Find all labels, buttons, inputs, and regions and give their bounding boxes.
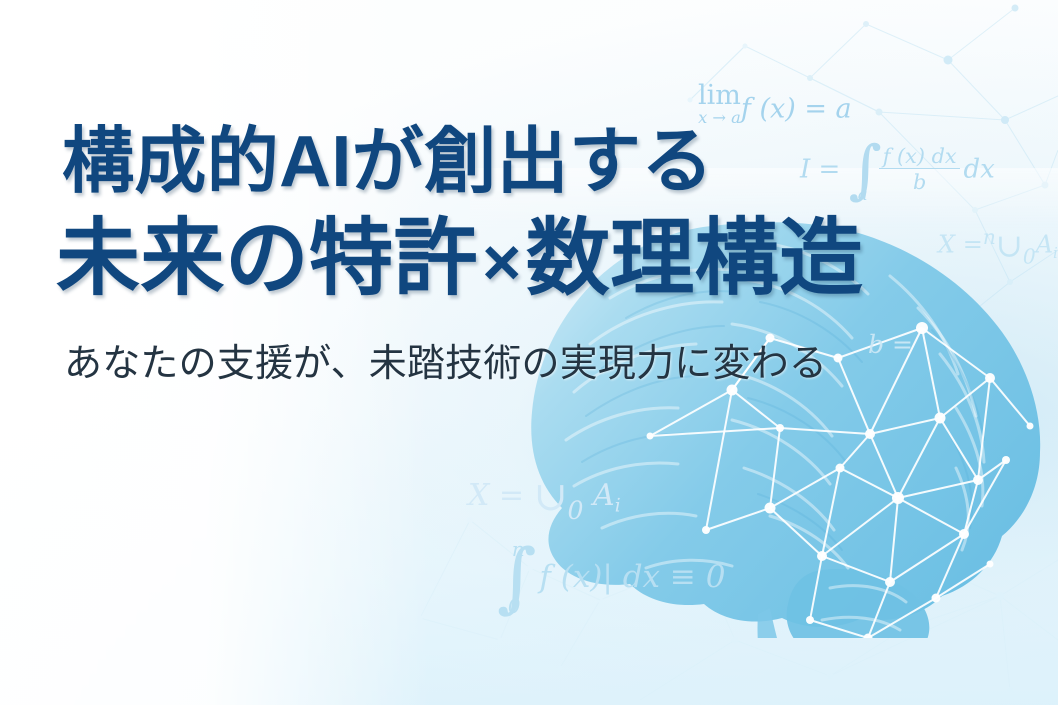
- formula-integral-trailing: dx: [964, 155, 995, 185]
- formula-limit-lim: lim: [698, 82, 741, 110]
- formula-union-top-lower: 0: [1023, 244, 1036, 268]
- formula-integral-zero: ∫ n 0 f (x)| dx ≡ 0: [497, 542, 725, 615]
- title-line-2: 未来の特許×数理構造: [56, 216, 961, 300]
- formula-union-left-lhs: X =: [468, 478, 524, 513]
- headline-block: 構成的AIが創出する 未来の特許×数理構造 あなたの支援が、未踏技術の実現力に変…: [56, 126, 961, 387]
- formula-integral-zero-body: f (x)| dx ≡ 0: [539, 559, 725, 595]
- formula-union-left-term-sub: i: [615, 496, 621, 517]
- formula-integral-zero-lower: 0: [508, 595, 521, 618]
- formula-union-left-lower: 0: [568, 496, 584, 525]
- formula-integral-zero-upper: n: [512, 538, 525, 561]
- formula-limit-body: f (x) = a: [741, 94, 852, 125]
- title-line-2-left: 未来の特許: [56, 211, 478, 305]
- union-sign-icon: n∪0: [983, 225, 1036, 268]
- formula-union-left-term: A: [593, 478, 615, 513]
- union-sign-icon-left: ∪0: [534, 472, 584, 525]
- title-line-1: 構成的AIが創出する: [62, 126, 961, 198]
- integral-sign-icon-zero: ∫ n 0: [497, 542, 530, 615]
- formula-union-top-term: A: [1036, 231, 1053, 259]
- title-separator-x-icon: ×: [478, 229, 526, 296]
- formula-union-left: X = ∪0 Ai: [468, 472, 621, 525]
- formula-limit: lim x → a f (x) = a: [698, 82, 852, 126]
- formula-union-top-upper: n: [983, 225, 996, 249]
- formula-union-top-cup: ∪: [996, 226, 1023, 264]
- title-line-2-right: 数理構造: [526, 211, 864, 305]
- formula-union-left-cup: ∪: [534, 472, 568, 520]
- formula-union-top-term-sub: i: [1053, 244, 1058, 262]
- hero-banner: lim x → a f (x) = a I = ∫ a f (x) dx b d…: [0, 0, 1058, 705]
- subtitle: あなたの支援が、未踏技術の実現力に変わる: [64, 332, 961, 387]
